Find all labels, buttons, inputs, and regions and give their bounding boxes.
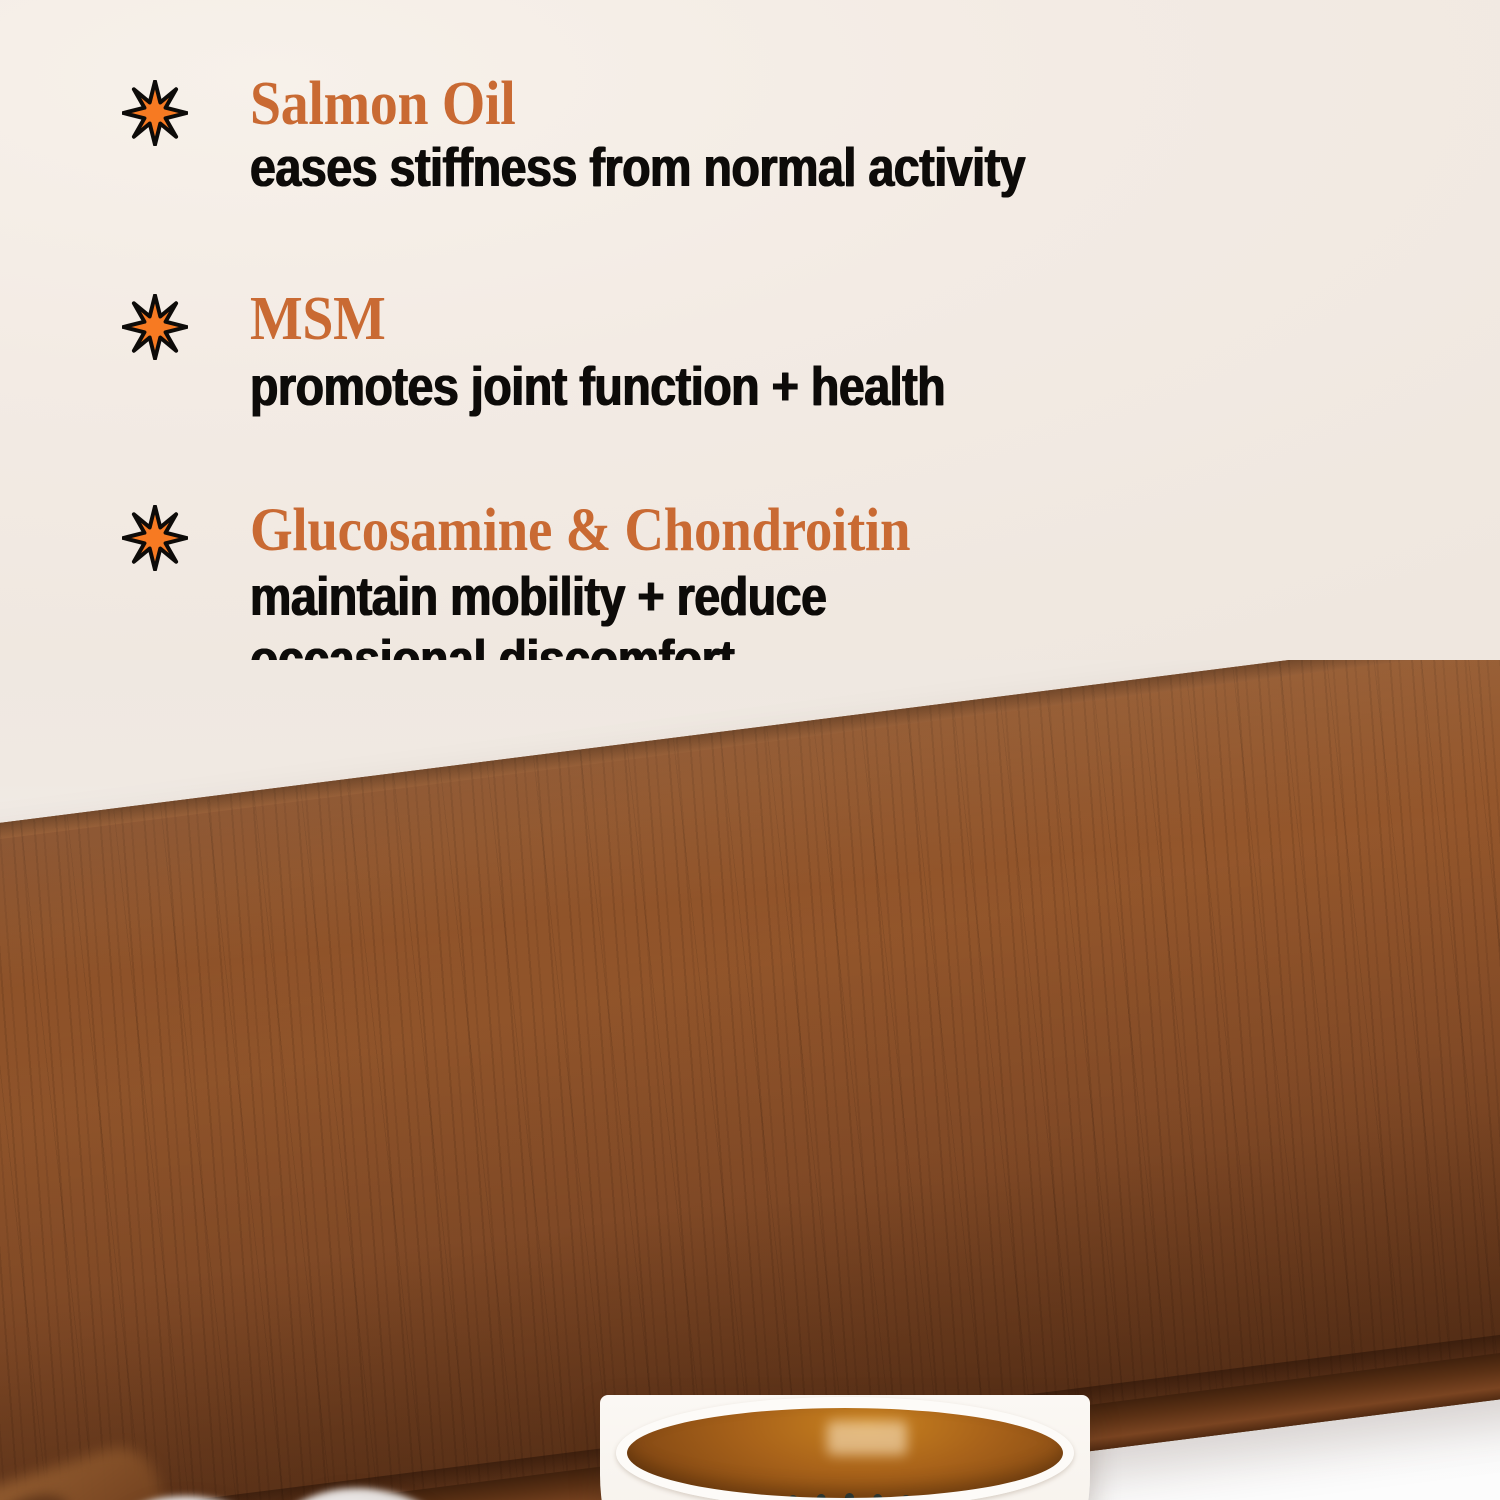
ingredient-name: MSM bbox=[250, 289, 1375, 350]
ad-creative-canvas: Salmon Oil eases stiffness from normal a… bbox=[0, 0, 1500, 1500]
cutting-board bbox=[0, 660, 1500, 1500]
benefit-item-salmon-oil: Salmon Oil eases stiffness from normal a… bbox=[122, 74, 1500, 197]
starburst-icon bbox=[122, 505, 188, 571]
oyster-left-3 bbox=[245, 1482, 469, 1500]
ingredient-description: promotes joint function + health bbox=[250, 358, 1306, 416]
benefit-text-block: MSM promotes joint function + health bbox=[250, 289, 1500, 417]
benefits-list: Salmon Oil eases stiffness from normal a… bbox=[0, 0, 1500, 691]
ingredient-name: Glucosamine & Chondroitin bbox=[250, 501, 1375, 561]
ingredient-photo bbox=[0, 660, 1500, 1500]
benefit-item-msm: MSM promotes joint function + health bbox=[122, 289, 1500, 417]
bowl-rim bbox=[616, 1397, 1074, 1500]
ingredient-name: Salmon Oil bbox=[250, 74, 1375, 135]
ingredient-description: eases stiffness from normal activity bbox=[250, 139, 1306, 197]
oyster-left-group bbox=[0, 1478, 500, 1500]
starburst-icon bbox=[122, 294, 188, 360]
benefit-text-block: Salmon Oil eases stiffness from normal a… bbox=[250, 74, 1500, 197]
oil-bowl bbox=[600, 1395, 1090, 1500]
starburst-icon bbox=[122, 80, 188, 146]
